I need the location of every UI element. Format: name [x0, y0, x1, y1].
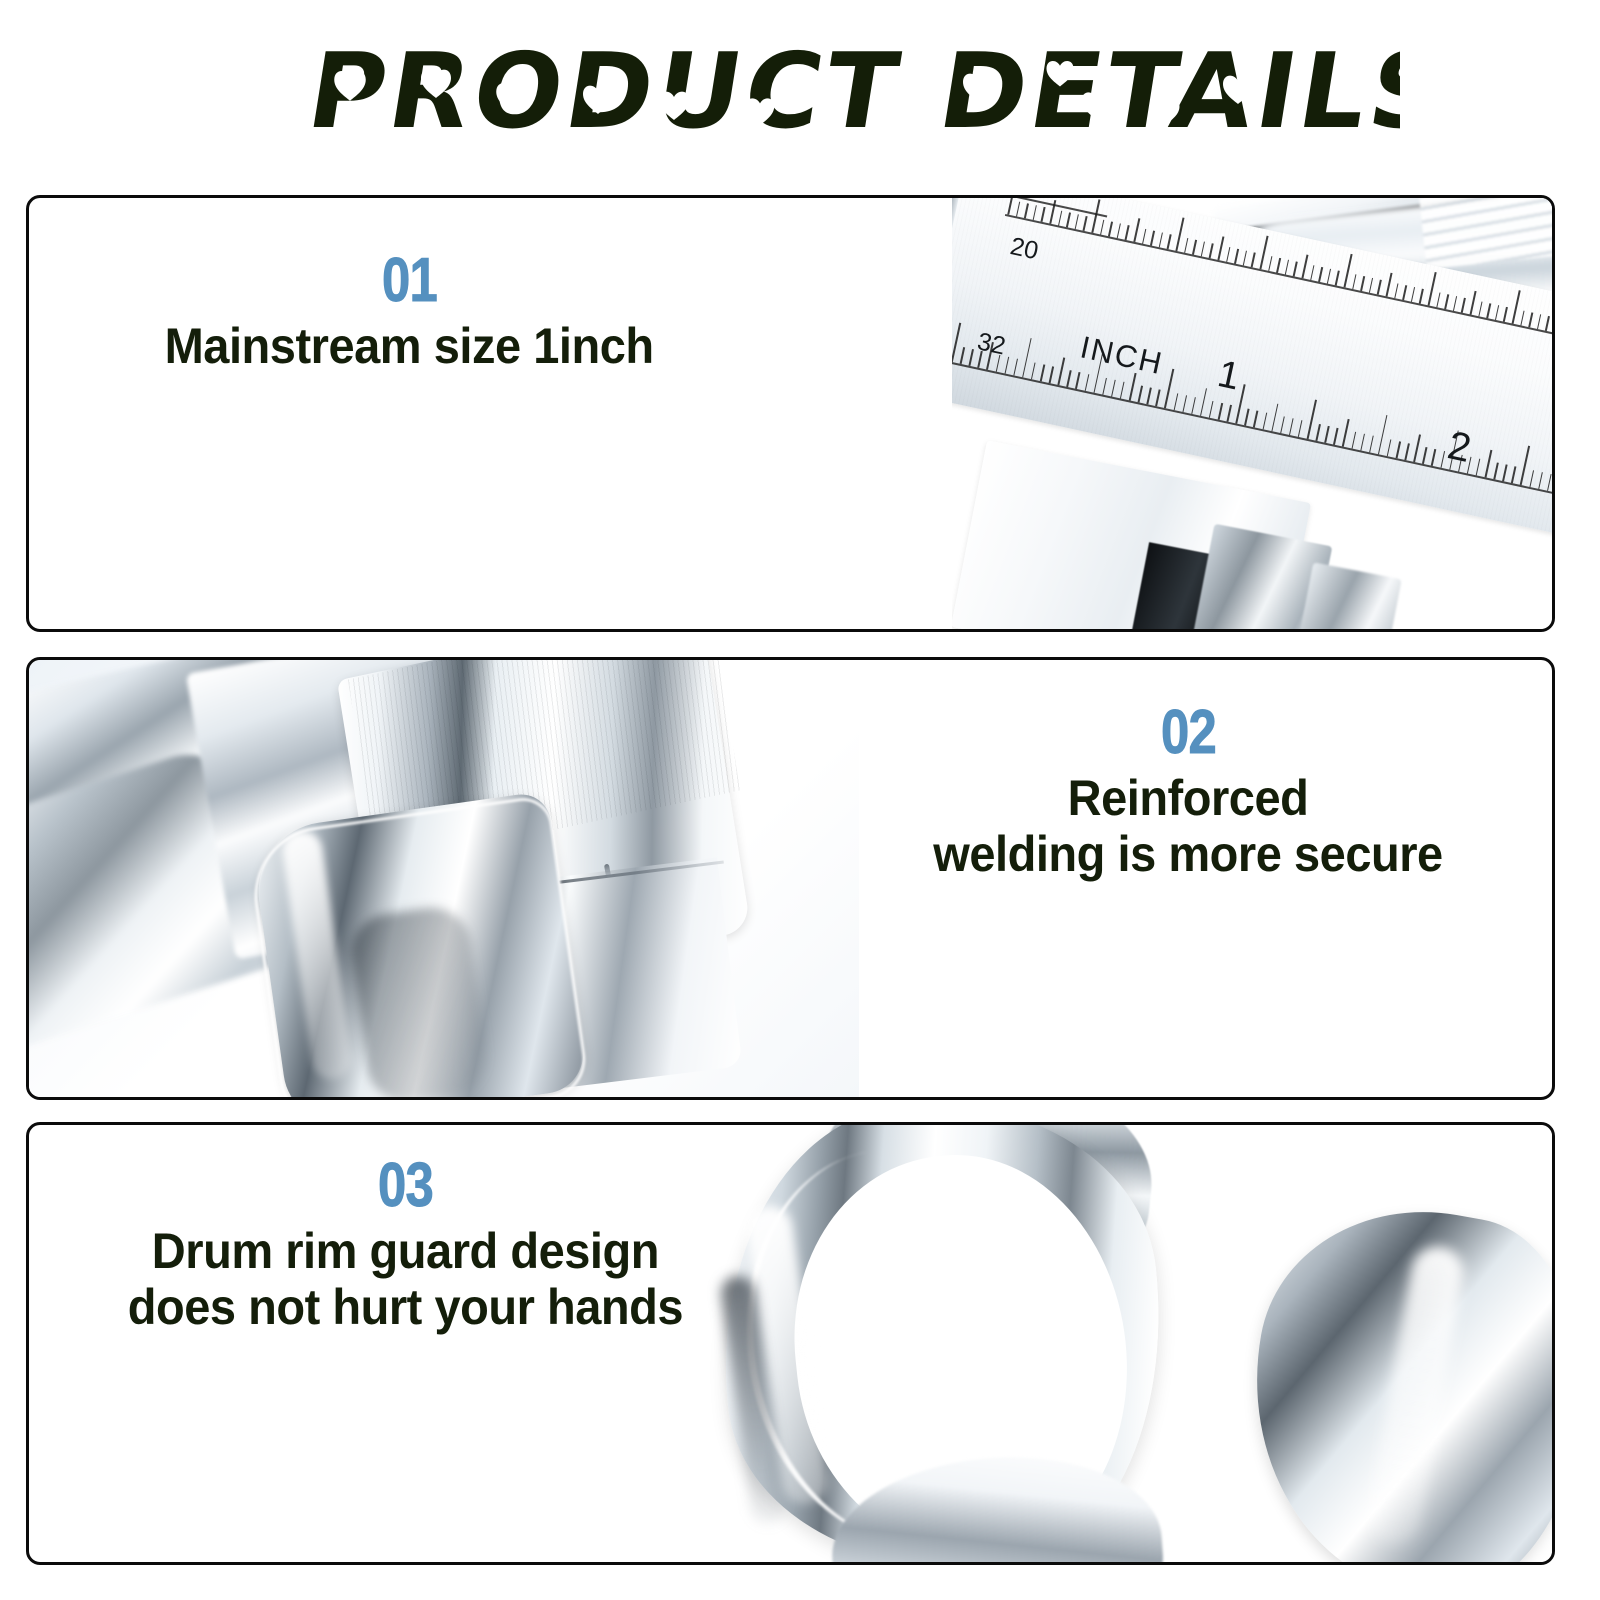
caliper-jaw-chrome-2: [1296, 562, 1402, 632]
welded-joint-photo: [29, 660, 859, 1100]
panel-3-headline-line-2: does not hurt your hands: [127, 1279, 682, 1335]
panel-3-text: 03 Drum rim guard design does not hurt y…: [65, 1155, 745, 1335]
panel-1-headline-line-1: Mainstream size 1inch: [164, 318, 653, 374]
panel-3-number: 03: [378, 1155, 433, 1217]
panel-2-headline-line-2: welding is more secure: [933, 826, 1442, 882]
panel-2-headline: Reinforced welding is more secure: [933, 770, 1442, 882]
panel-2-number: 02: [1161, 702, 1216, 764]
panel-1-headline: Mainstream size 1inch: [164, 318, 653, 374]
panel-2-headline-line-1: Reinforced: [933, 770, 1442, 826]
detail-panel-2: 02 Reinforced welding is more secure: [26, 657, 1555, 1100]
drum-rim-hoop-photo: [692, 1125, 1552, 1565]
panel-3-headline-line-1: Drum rim guard design: [127, 1223, 682, 1279]
panel-3-headline: Drum rim guard design does not hurt your…: [127, 1223, 682, 1335]
panel-1-text: 01 Mainstream size 1inch: [89, 250, 729, 374]
detail-panel-3: 03 Drum rim guard design does not hurt y…: [26, 1122, 1555, 1565]
page-title: PRODUCT DETAILS: [0, 22, 1600, 162]
detail-panel-1: 01 Mainstream size 1inch 20: [26, 195, 1555, 632]
panel-2-text: 02 Reinforced welding is more secure: [858, 702, 1518, 882]
page-title-graphic: PRODUCT DETAILS: [200, 27, 1400, 157]
panel-1-number: 01: [382, 250, 437, 312]
caliper-ruler-photo: 20 32 INCH 1 2: [952, 198, 1552, 632]
